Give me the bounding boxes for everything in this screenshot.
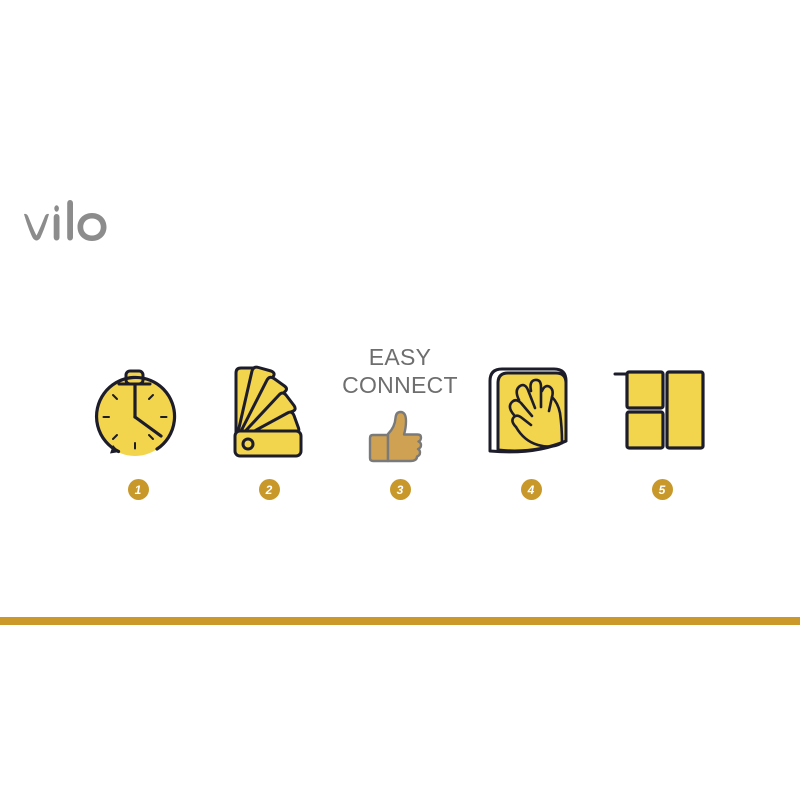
step-item-3[interactable]: EASY CONNECT 3 [340, 300, 460, 500]
step-badge-5: 5 [652, 479, 673, 500]
step-caption-easy-connect: EASY CONNECT [342, 343, 458, 399]
color-swatch-fan-icon [214, 355, 324, 465]
step-item-5[interactable]: 5 [602, 300, 722, 500]
stopwatch-icon [83, 355, 193, 465]
step-art-4 [471, 305, 591, 465]
step-art-2 [209, 305, 329, 465]
step-item-1[interactable]: 1 [78, 300, 198, 500]
step-badge-4: 4 [521, 479, 542, 500]
brand-logo: vilo [20, 198, 140, 254]
step-item-2[interactable]: 2 [209, 300, 329, 500]
step-art-3: EASY CONNECT [340, 305, 460, 465]
step-badge-2: 2 [259, 479, 280, 500]
gold-divider-bar [0, 617, 800, 625]
thumbs-up-icon [365, 403, 435, 465]
hand-wiping-cloth-icon [476, 355, 586, 465]
step-art-5 [602, 305, 722, 465]
step-badge-3: 3 [390, 479, 411, 500]
step-badge-1: 1 [128, 479, 149, 500]
panel-layout-icon [607, 355, 717, 465]
vilo-wordmark-icon [20, 198, 140, 254]
step-item-4[interactable]: 4 [471, 300, 591, 500]
steps-row: 1 2 EASY CONNECT [78, 300, 722, 500]
step-art-1 [78, 305, 198, 465]
